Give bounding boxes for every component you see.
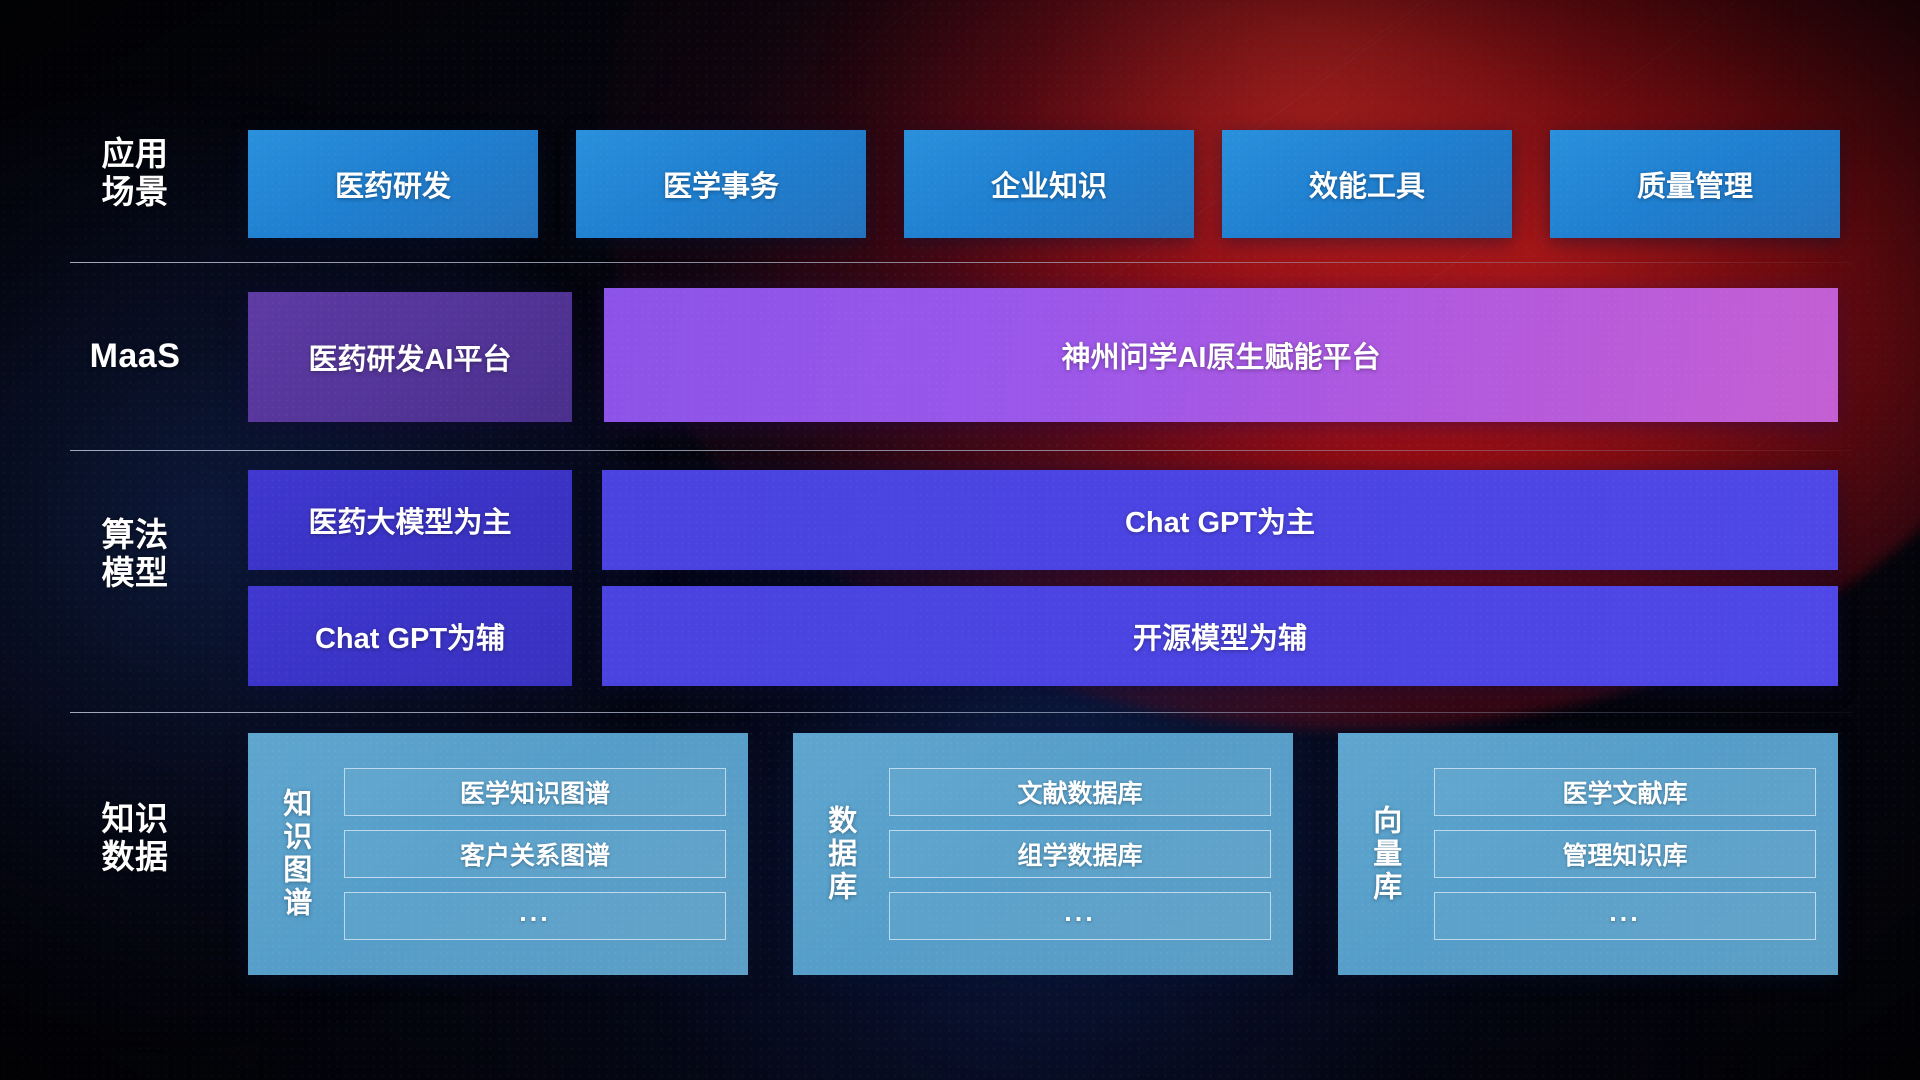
knowledge-item-more[interactable]: ... (344, 892, 726, 940)
knowledge-item-more[interactable]: ... (1434, 892, 1816, 940)
layer-label-algorithm-models: 算法模型 (70, 516, 200, 593)
divider-2 (70, 450, 1852, 451)
architecture-diagram: 应用场景 医药研发 医学事务 企业知识 效能工具 质量管理 MaaS 医药研发A… (0, 0, 1920, 1080)
knowledge-item[interactable]: 客户关系图谱 (344, 830, 726, 878)
knowledge-panel-items-1: 文献数据库 组学数据库 ... (885, 733, 1293, 975)
maas-card-drug-ai-platform[interactable]: 医药研发AI平台 (248, 292, 572, 422)
algo-card-row0-left[interactable]: 医药大模型为主 (248, 470, 572, 570)
layer-label-application-scenarios: 应用场景 (70, 135, 200, 212)
algo-card-row1-right[interactable]: 开源模型为辅 (602, 586, 1838, 686)
knowledge-item[interactable]: 医学文献库 (1434, 768, 1816, 816)
app-card-4[interactable]: 质量管理 (1550, 130, 1840, 238)
algo-card-row1-left[interactable]: Chat GPT为辅 (248, 586, 572, 686)
divider-3 (70, 712, 1852, 713)
app-card-1[interactable]: 医学事务 (576, 130, 866, 238)
divider-1 (70, 262, 1852, 263)
layer-label-maas: MaaS (70, 337, 200, 376)
knowledge-item[interactable]: 组学数据库 (889, 830, 1271, 878)
knowledge-panel-database[interactable]: 数据库 文献数据库 组学数据库 ... (793, 733, 1293, 975)
knowledge-panel-title-0: 知识图谱 (248, 733, 340, 975)
knowledge-item[interactable]: 文献数据库 (889, 768, 1271, 816)
app-card-2[interactable]: 企业知识 (904, 130, 1194, 238)
app-card-3[interactable]: 效能工具 (1222, 130, 1512, 238)
knowledge-panel-title-2: 向量库 (1338, 733, 1430, 975)
knowledge-item-more[interactable]: ... (889, 892, 1271, 940)
maas-card-shenzhou-platform[interactable]: 神州问学AI原生赋能平台 (604, 288, 1838, 422)
knowledge-panel-vector-store[interactable]: 向量库 医学文献库 管理知识库 ... (1338, 733, 1838, 975)
knowledge-panel-items-2: 医学文献库 管理知识库 ... (1430, 733, 1838, 975)
layer-label-knowledge-data: 知识数据 (70, 800, 200, 877)
knowledge-panel-items-0: 医学知识图谱 客户关系图谱 ... (340, 733, 748, 975)
knowledge-item[interactable]: 医学知识图谱 (344, 768, 726, 816)
knowledge-item[interactable]: 管理知识库 (1434, 830, 1816, 878)
knowledge-panel-knowledge-graph[interactable]: 知识图谱 医学知识图谱 客户关系图谱 ... (248, 733, 748, 975)
app-card-0[interactable]: 医药研发 (248, 130, 538, 238)
knowledge-panel-title-1: 数据库 (793, 733, 885, 975)
algo-card-row0-right[interactable]: Chat GPT为主 (602, 470, 1838, 570)
